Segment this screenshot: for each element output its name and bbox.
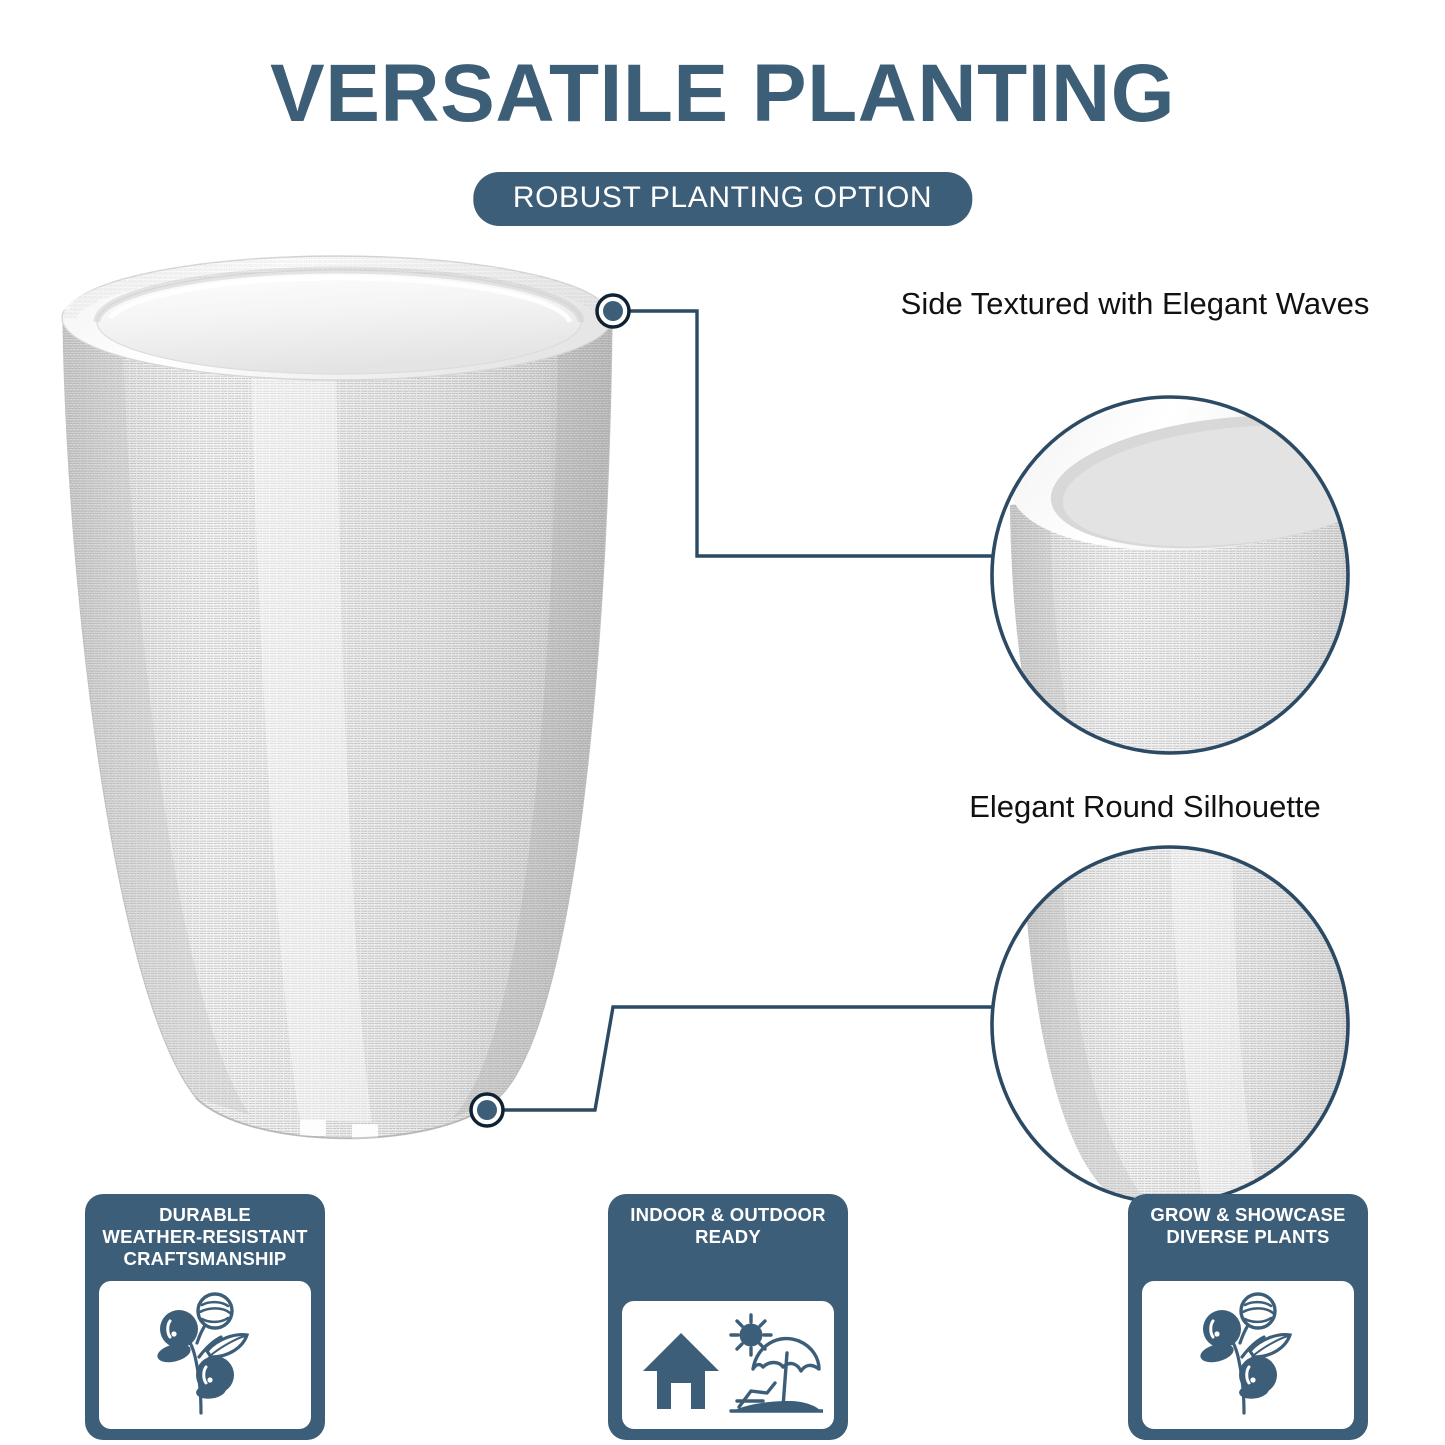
callout-connector-2: [500, 1007, 992, 1110]
berry-striped: [198, 1294, 232, 1328]
infographic-canvas: VERSATILE PLANTING ROBUST PLANTING OPTIO…: [0, 0, 1445, 1445]
beach-umbrella-icon: [753, 1339, 819, 1407]
berry-branch-icon: [149, 1291, 261, 1419]
callout-label-side-texture: Side Textured with Elegant Waves: [900, 283, 1370, 324]
feature-badge-title: DURABLE WEATHER-RESISTANT CRAFTSMANSHIP: [91, 1204, 319, 1270]
berry-left: [1203, 1310, 1241, 1348]
feature-badge-durable[interactable]: DURABLE WEATHER-RESISTANT CRAFTSMANSHIP: [85, 1194, 325, 1440]
feature-badge-icon-card: [622, 1301, 834, 1429]
feature-badge-title: INDOOR & OUTDOOR READY: [614, 1204, 842, 1248]
house-and-beach-icon: [633, 1309, 823, 1421]
feature-badge-icon-card: [1142, 1281, 1354, 1429]
berry-left: [160, 1310, 198, 1348]
callout-marker-1[interactable]: [597, 295, 629, 327]
callout-label-round-silhouette: Elegant Round Silhouette: [920, 786, 1370, 827]
berry-branch-icon: [1192, 1291, 1304, 1419]
feature-badge-title: GROW & SHOWCASE DIVERSE PLANTS: [1134, 1204, 1362, 1248]
feature-badge-grow-showcase[interactable]: GROW & SHOWCASE DIVERSE PLANTS: [1128, 1194, 1368, 1440]
planter-main: [62, 252, 612, 1140]
feature-badge-icon-card: [99, 1281, 311, 1429]
feature-badge-indoor-outdoor[interactable]: INDOOR & OUTDOOR READY: [608, 1194, 848, 1440]
detail-zoom-circle-bottom: [992, 820, 1414, 1228]
detail-zoom-circle-top: [992, 371, 1429, 919]
house-icon: [643, 1333, 719, 1409]
berry-striped: [1241, 1294, 1275, 1328]
sun-icon: [731, 1315, 771, 1355]
callout-marker-2[interactable]: [471, 1094, 503, 1126]
callout-connector-1: [626, 311, 992, 556]
